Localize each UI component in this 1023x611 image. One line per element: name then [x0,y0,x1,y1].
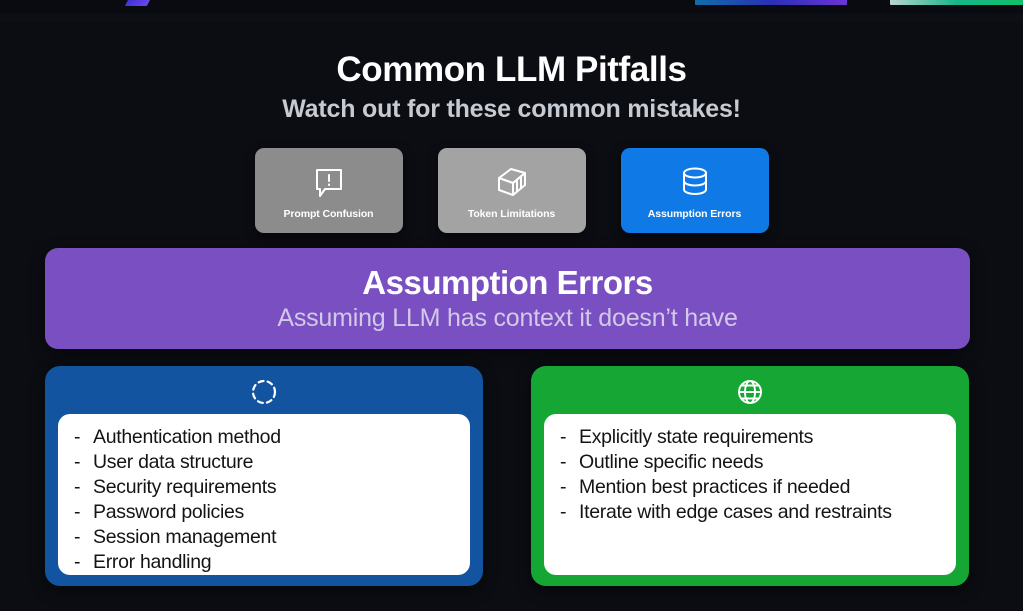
banner-title: Assumption Errors [362,264,652,302]
page-subtitle: Watch out for these common mistakes! [0,93,1023,125]
selected-pitfall-banner: Assumption Errors Assuming LLM has conte… [45,248,970,349]
bullet-dash: - [560,425,579,450]
list-item: - Mention best practices if needed [560,475,942,500]
dashed-circle-icon [249,377,279,407]
missing-context-card: - Authentication method - User data stru… [58,414,470,575]
list-item: - Security requirements [74,475,456,500]
tab-label: Prompt Confusion [284,208,374,220]
remedy-panel: - Explicitly state requirements - Outlin… [531,366,969,586]
globe-icon [735,377,765,407]
bullet-dash: - [74,475,93,500]
gradient-bar-left-decoration [695,0,847,5]
tab-assumption-errors[interactable]: Assumption Errors [621,148,769,233]
chrome-underbar [0,13,1023,22]
list-item: - Password policies [74,500,456,525]
gradient-sliver-decoration [125,0,153,6]
list-item-label: Explicitly state requirements [579,425,942,450]
list-item-label: Outline specific needs [579,450,942,475]
missing-context-list: - Authentication method - User data stru… [74,425,456,575]
3d-box-icon [491,162,533,202]
bullet-dash: - [560,475,579,500]
tab-label: Token Limitations [468,208,555,220]
list-item: - Explicitly state requirements [560,425,942,450]
tab-label: Assumption Errors [648,208,741,220]
pitfall-tab-list: Prompt Confusion Token Limitations [0,148,1023,233]
speech-bubble-alert-icon [308,162,350,202]
list-item: - User data structure [74,450,456,475]
list-item-label: Authentication method [93,425,456,450]
banner-subtitle: Assuming LLM has context it doesn’t have [277,303,737,333]
missing-context-panel: - Authentication method - User data stru… [45,366,483,586]
database-icon [674,162,716,202]
list-item: - Outline specific needs [560,450,942,475]
remedy-list: - Explicitly state requirements - Outlin… [560,425,942,525]
bullet-dash: - [74,525,93,550]
remedy-card: - Explicitly state requirements - Outlin… [544,414,956,575]
page-title: Common LLM Pitfalls [0,50,1023,90]
bullet-dash: - [560,450,579,475]
list-item-label: Password policies [93,500,456,525]
tab-token-limitations[interactable]: Token Limitations [438,148,586,233]
bullet-dash: - [560,500,579,525]
slide-canvas: Common LLM Pitfalls Watch out for these … [0,0,1023,611]
list-item-label: Iterate with edge cases and restraints [579,500,942,525]
slide-header: Common LLM Pitfalls Watch out for these … [0,50,1023,125]
list-item-label: Security requirements [93,475,456,500]
list-item-label: User data structure [93,450,456,475]
bullet-dash: - [74,550,93,575]
tab-prompt-confusion[interactable]: Prompt Confusion [255,148,403,233]
list-item-label: Session management [93,525,456,550]
bullet-dash: - [74,450,93,475]
list-item-label: Error handling [93,550,456,575]
detail-panels: - Authentication method - User data stru… [45,366,970,586]
bullet-dash: - [74,500,93,525]
list-item: - Iterate with edge cases and restraints [560,500,942,525]
bullet-dash: - [74,425,93,450]
list-item: - Error handling [74,550,456,575]
list-item-label: Mention best practices if needed [579,475,942,500]
list-item: - Authentication method [74,425,456,450]
list-item: - Session management [74,525,456,550]
gradient-bar-right-decoration [890,0,1023,5]
top-chrome-strip [0,0,1023,22]
